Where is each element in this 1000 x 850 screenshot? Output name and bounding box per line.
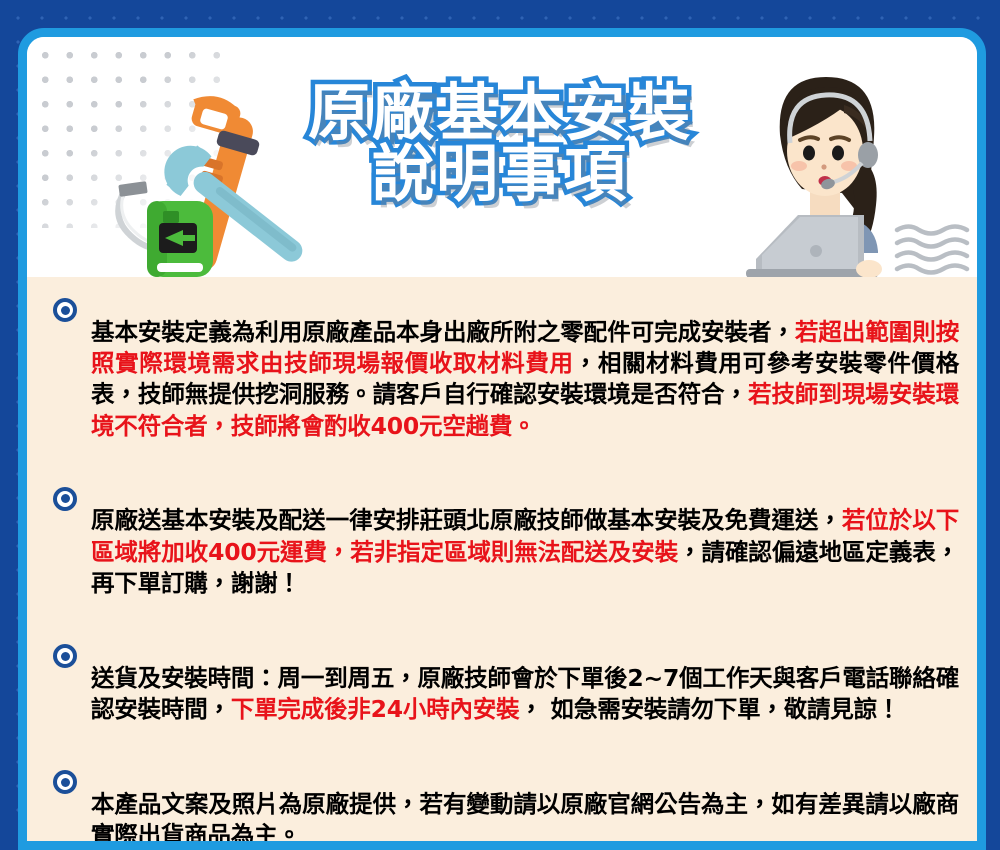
text-segment: 原廠送基本安裝及配送一律安排莊頭北原廠技師做基本安裝及免費運送， <box>91 506 842 534</box>
list-item: 送貨及安裝時間：周一到周五，原廠技師會於下單後2~7個工作天與客戶電話聯絡確認安… <box>47 639 959 749</box>
text-segment-highlight: 下單完成後非24小時內安裝 <box>231 695 520 723</box>
title-line-2: 說明事項 <box>265 144 735 205</box>
text-segment: 本產品文案及照片為原廠提供，若有變動請以原廠官網公告為主，如有差異請以廠商實際出… <box>91 790 959 849</box>
target-bullet-icon <box>53 644 77 668</box>
list-item: 本產品文案及照片為原廠提供，若有變動請以原廠官網公告為主，如有差異請以廠商實際出… <box>47 765 959 850</box>
text-segment: ， 如急需安裝請勿下單，敬請見諒！ <box>519 695 900 723</box>
infographic-page: 原廠基本安裝 說明事項 <box>0 0 1000 830</box>
notice-list: 基本安裝定義為利用原廠產品本身出廠所附之零配件可完成安裝者，若超出範圍則按照實際… <box>27 277 977 850</box>
text-segment: 基本安裝定義為利用原廠產品本身出廠所附之零配件可完成安裝者， <box>91 318 795 346</box>
title-line-1: 原廠基本安裝 <box>265 83 735 144</box>
wave-lines-decoration <box>893 222 971 277</box>
list-item-text: 本產品文案及照片為原廠提供，若有變動請以原廠官網公告為主，如有差異請以廠商實際出… <box>91 789 959 850</box>
header-banner: 原廠基本安裝 說明事項 <box>27 37 977 277</box>
target-bullet-icon <box>53 487 77 511</box>
list-item: 原廠送基本安裝及配送一律安排莊頭北原廠技師做基本安裝及免費運送，若位於以下區域將… <box>47 482 959 623</box>
list-item-text: 原廠送基本安裝及配送一律安排莊頭北原廠技師做基本安裝及免費運送，若位於以下區域將… <box>91 505 959 599</box>
list-item-text: 基本安裝定義為利用原廠產品本身出廠所附之零配件可完成安裝者，若超出範圍則按照實際… <box>91 317 959 443</box>
list-item-text: 送貨及安裝時間：周一到周五，原廠技師會於下單後2~7個工作天與客戶電話聯絡確認安… <box>91 663 959 726</box>
target-bullet-icon <box>53 770 77 794</box>
content-frame: 原廠基本安裝 說明事項 <box>18 28 986 850</box>
page-title: 原廠基本安裝 說明事項 <box>265 83 735 205</box>
list-item: 基本安裝定義為利用原廠產品本身出廠所附之零配件可完成安裝者，若超出範圍則按照實際… <box>47 293 959 466</box>
target-bullet-icon <box>53 298 77 322</box>
